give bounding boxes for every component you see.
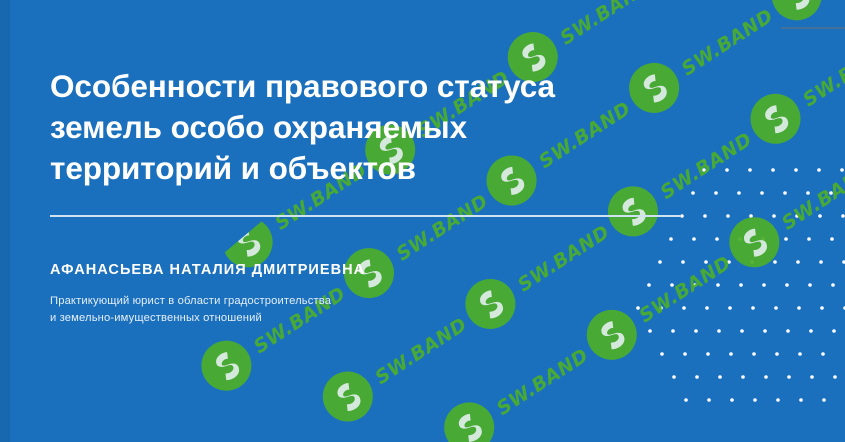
presenter-role-line-2: и земельно-имущественных отношений [50, 310, 331, 327]
sw-band-logo-icon [718, 206, 793, 282]
presentation-slide: SW.BANDSW.BANDSW.BANDSW.BANDSW.BANDSW.BA… [0, 0, 845, 442]
title-divider [50, 215, 680, 217]
presenter-role-line-1: Практикующий юрист в области градостроит… [50, 293, 331, 310]
presenter-name: АФАНАСЬЕВА НАТАЛИЯ ДМИТРИЕВНА [50, 262, 365, 278]
sw-band-logo-icon [739, 82, 814, 158]
title-line-1: Особенности правового статуса [50, 68, 555, 104]
title-line-2: земель особо охраняемых [50, 109, 467, 145]
watermark-item: SW.BAND [709, 127, 845, 297]
watermark-item: SW.BAND [801, 0, 845, 127]
slide-content: Особенности правового статуса земель осо… [50, 0, 690, 442]
presenter-role: Практикующий юрист в области градостроит… [50, 293, 331, 327]
watermark-text: SW.BAND [799, 36, 845, 111]
left-edge-strip [0, 0, 10, 442]
page-title: Особенности правового статуса земель осо… [50, 66, 650, 189]
watermark-text: SW.BAND [778, 159, 845, 234]
title-line-3: территорий и объектов [50, 150, 416, 186]
sw-band-logo-icon [760, 0, 835, 35]
watermark-text: SW.BAND [678, 5, 778, 80]
watermark-item: SW.BAND [751, 0, 845, 50]
top-right-rule [781, 27, 845, 29]
